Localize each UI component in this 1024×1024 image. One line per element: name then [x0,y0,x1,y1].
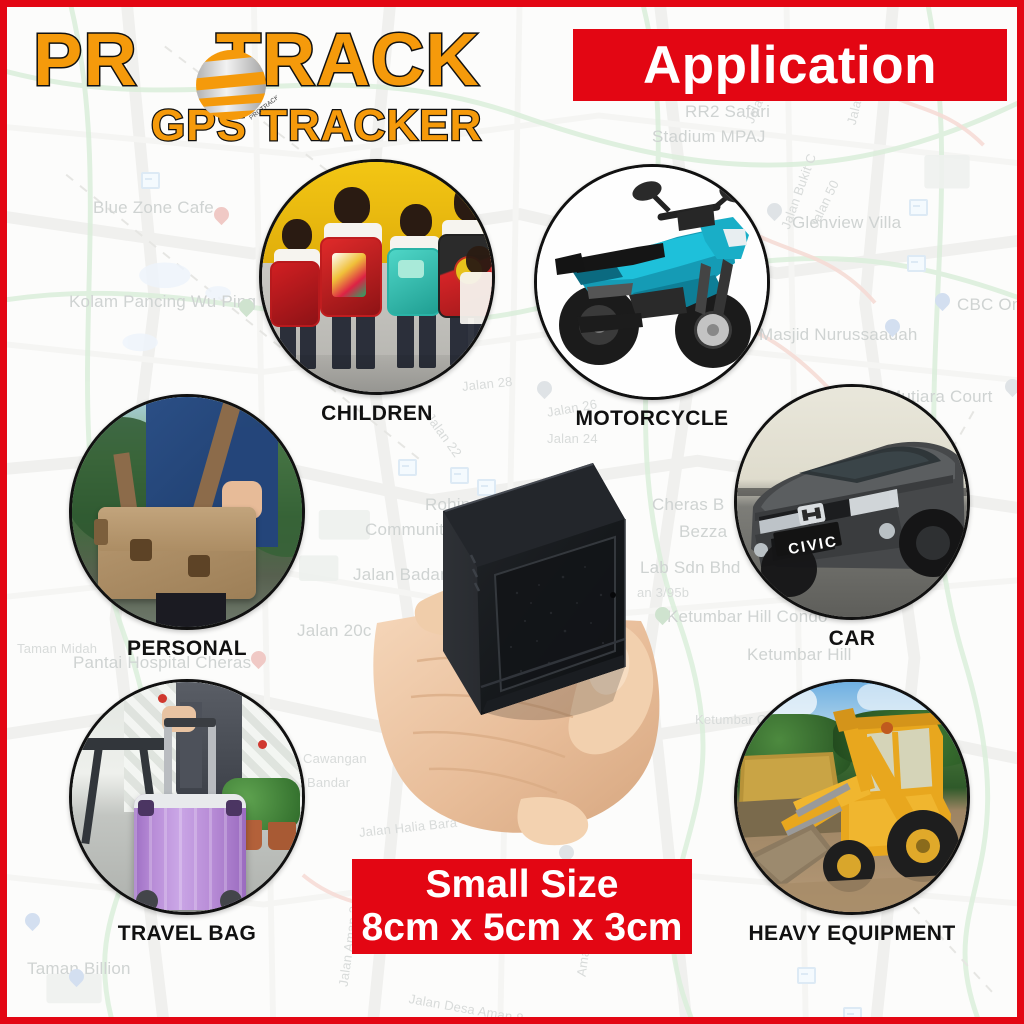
application-banner: Application [573,29,1007,101]
product-poster: Blue Zone Cafe Kolam Pancing Wu Ping Pan… [0,0,1024,1024]
map-pin-icon [69,969,84,990]
size-banner: Small Size 8cm x 5cm x 3cm [352,859,692,954]
children-photo [259,159,495,395]
car-photo: CIVIC [734,384,970,620]
map-label: Stadium MPAJ [652,127,766,147]
app-card-label-car: CAR [734,627,970,651]
map-transit-icon [797,967,816,984]
heavy-equipment-photo [734,679,970,915]
size-dimensions: 8cm x 5cm x 3cm [362,908,683,948]
globe-stripes-icon: PROTRACK [185,39,277,131]
map-transit-icon [843,1007,862,1017]
app-card-heavy-equipment[interactable]: HEAVY EQUIPMENT [734,679,970,946]
app-card-label-personal: PERSONAL [69,637,305,661]
map-pin-icon [885,319,900,340]
personal-bag-photo [69,394,305,630]
brand-name-part1: PR [33,18,138,101]
app-card-label-travel-bag: TRAVEL BAG [69,922,305,946]
app-card-personal[interactable]: PERSONAL [69,394,305,661]
app-card-label-heavy-equipment: HEAVY EQUIPMENT [734,922,970,946]
app-card-travel-bag[interactable]: TRAVEL BAG [69,679,305,946]
product-photo [325,415,725,865]
map-pin-icon [25,913,40,934]
travel-bag-photo [69,679,305,915]
map-transit-icon [909,199,928,216]
map-label: Kolam Pancing Wu Ping [69,292,256,312]
application-banner-label: Application [643,39,937,92]
map-pin-icon [1005,379,1017,400]
map-pin-icon [214,207,229,228]
app-card-car[interactable]: CIVIC CAR [734,384,970,651]
map-label: Blue Zone Cafe [93,198,214,218]
car-plate-text: CIVIC [787,532,839,557]
map-label: CBC Onli [957,295,1017,315]
map-transit-icon [141,172,160,189]
brand-logo: PRTRACK GPS TRACKER PROTRACK [33,21,553,151]
app-card-children[interactable]: CHILDREN [259,159,495,426]
brand-wordmark: PRTRACK [33,21,553,99]
map-transit-icon [907,255,926,272]
map-pin-icon [935,293,950,314]
motorcycle-photo [534,164,770,400]
map-pin-icon [239,299,254,320]
size-title: Small Size [426,865,619,905]
